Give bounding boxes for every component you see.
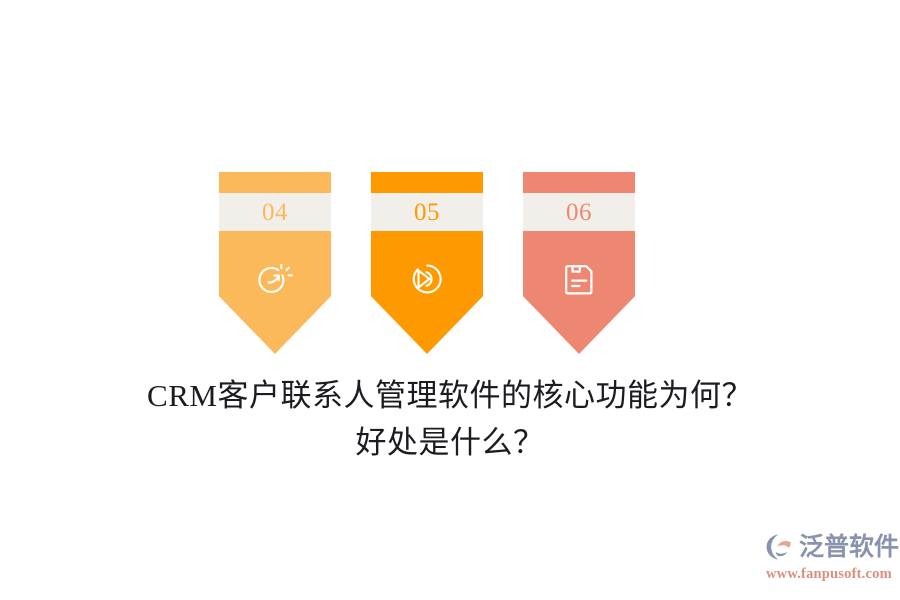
banner-number-band: 06 [523,193,635,231]
banner-number-band: 04 [219,193,331,231]
watermark-brand-name: 泛普软件 [799,535,899,560]
growth-arrow-circle-icon [219,256,331,302]
banner-number: 05 [414,200,440,225]
banner-item[interactable]: 05 [371,172,483,354]
banner-item[interactable]: 06 [523,172,635,354]
save-document-icon [523,256,635,302]
banner-item[interactable]: 04 [219,172,331,354]
page-title-line-1: CRM客户联系人管理软件的核心功能为何？ [0,372,900,419]
watermark: 泛普软件 www.fanpusoft.com [765,530,893,586]
page-title: CRM客户联系人管理软件的核心功能为何？ 好处是什么？ [0,372,900,466]
banner-number: 04 [262,200,288,225]
banner-number-band: 05 [371,193,483,231]
watermark-url: www.fanpusoft.com [766,566,893,583]
page-title-line-2: 好处是什么？ [0,419,900,466]
double-chevron-circle-icon [371,256,483,302]
poster-canvas: 04 05 [0,0,900,600]
banner-number: 06 [566,200,592,225]
fanpu-leaf-logo-icon [765,532,795,562]
banner-group: 04 05 [219,172,685,354]
watermark-brand-row: 泛普软件 [765,530,893,564]
